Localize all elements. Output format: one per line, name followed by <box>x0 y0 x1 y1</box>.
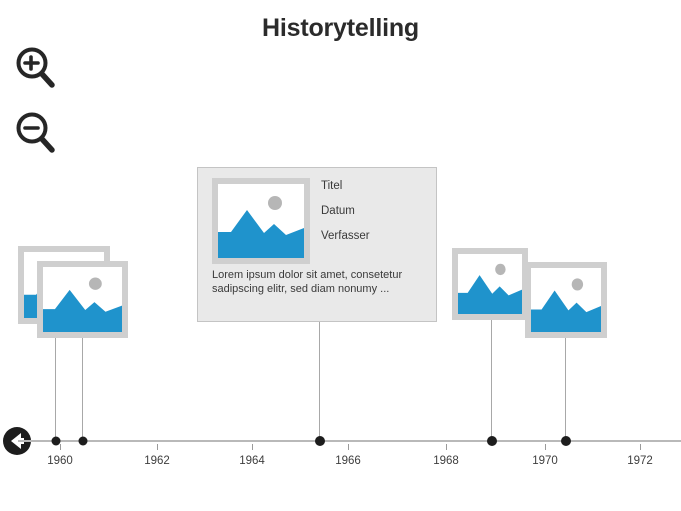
timeline-axis <box>18 440 681 442</box>
event-stem <box>82 338 83 441</box>
card-metadata: Titel Datum Verfasser <box>321 180 431 255</box>
axis-tick <box>640 444 641 450</box>
axis-tick <box>348 444 349 450</box>
image-placeholder-icon <box>218 184 304 258</box>
axis-label-1962: 1962 <box>144 455 170 467</box>
zoom-out-button[interactable] <box>13 110 59 156</box>
thumbnail-3[interactable] <box>452 248 528 320</box>
axis-tick <box>157 444 158 450</box>
event-1960[interactable] <box>51 437 60 446</box>
axis-tick <box>60 444 61 450</box>
magnifier-minus-icon <box>13 110 59 156</box>
card-image-placeholder <box>212 178 310 264</box>
axis-label-1968: 1968 <box>433 455 459 467</box>
axis-tick <box>545 444 546 450</box>
event-detail-card[interactable]: Titel Datum Verfasser Lorem ipsum dolor … <box>197 167 437 322</box>
thumbnail-2[interactable] <box>37 261 128 338</box>
event-stem <box>319 322 320 441</box>
event-1960-half[interactable] <box>78 437 87 446</box>
page-title: Historytelling <box>0 14 681 43</box>
image-placeholder-icon <box>531 268 601 332</box>
image-placeholder <box>458 254 522 314</box>
axis-label-1966: 1966 <box>335 455 361 467</box>
event-1970-half[interactable] <box>561 436 571 446</box>
event-stem <box>491 320 492 441</box>
event-1968-half[interactable] <box>487 436 497 446</box>
card-body-text: Lorem ipsum dolor sit amet, consetetur s… <box>212 268 428 296</box>
magnifier-plus-icon <box>13 45 59 91</box>
event-stem <box>565 338 566 441</box>
image-placeholder-icon <box>458 254 522 314</box>
axis-tick <box>446 444 447 450</box>
image-placeholder <box>531 268 601 332</box>
axis-tick <box>252 444 253 450</box>
axis-label-1960: 1960 <box>47 455 73 467</box>
zoom-in-button[interactable] <box>13 45 59 91</box>
event-1965-selected[interactable] <box>315 436 325 446</box>
image-placeholder-icon <box>43 267 122 332</box>
axis-label-1972: 1972 <box>627 455 653 467</box>
thumbnail-4[interactable] <box>525 262 607 338</box>
image-placeholder <box>43 267 122 332</box>
axis-label-1964: 1964 <box>239 455 265 467</box>
event-stem <box>55 338 56 441</box>
timeline-canvas: Historytelling 1960196219641966196819701… <box>0 0 681 511</box>
card-meta-titel: Titel <box>321 180 431 192</box>
card-meta-verfasser: Verfasser <box>321 230 431 242</box>
axis-label-1970: 1970 <box>532 455 558 467</box>
card-meta-datum: Datum <box>321 205 431 217</box>
